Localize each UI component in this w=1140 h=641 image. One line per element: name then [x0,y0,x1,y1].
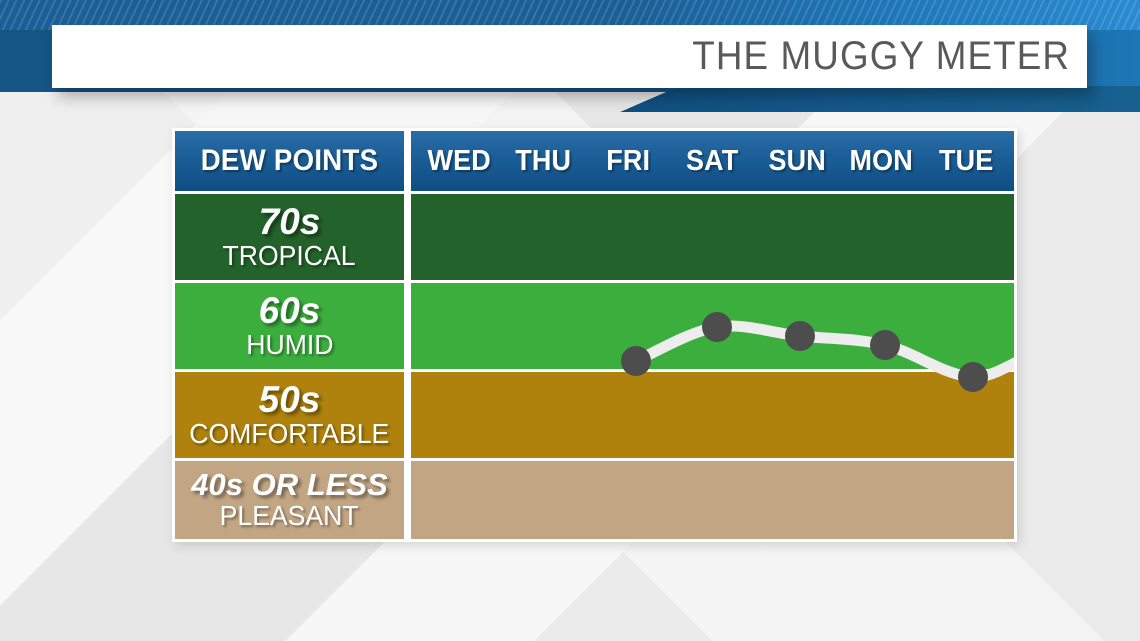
band-plot-pleasant [411,461,1014,539]
day-label-sun: SUN [758,145,837,178]
table-header-dew-points: DEW POINTS [175,131,404,191]
banner-notch-shape [620,86,1140,112]
day-label-tue: TUE [926,145,1005,178]
band-range-comfortable: 50s [259,381,321,418]
band-plot-tropical [411,194,1014,280]
title-card: THE MUGGY METER [52,25,1087,88]
band-range-tropical: 70s [259,203,321,240]
day-label-sat: SAT [673,145,752,178]
band-plot-comfortable [411,372,1014,458]
day-label-thu: THU [504,145,583,178]
day-label-wed: WED [420,145,499,178]
band-left-tropical: 70s TROPICAL [175,194,404,280]
page-title: THE MUGGY METER [693,34,1087,79]
table-header-days: WED THU FRI SAT SUN MON TUE [411,131,1014,191]
dew-points-header-label: DEW POINTS [201,144,379,178]
band-range-pleasant: 40s OR LESS [191,469,387,500]
table-grid: DEW POINTS WED THU FRI SAT SUN MON TUE 7… [175,131,1014,539]
band-label-comfortable: COMFORTABLE [189,419,389,448]
band-range-humid: 60s [259,292,321,329]
band-left-comfortable: 50s COMFORTABLE [175,372,404,458]
band-label-pleasant: PLEASANT [220,501,359,530]
band-label-tropical: TROPICAL [223,241,356,270]
muggy-meter-table: DEW POINTS WED THU FRI SAT SUN MON TUE 7… [172,128,1017,542]
day-label-row: WED THU FRI SAT SUN MON TUE [417,131,1008,191]
band-left-humid: 60s HUMID [175,283,404,369]
band-plot-humid [411,283,1014,369]
day-label-mon: MON [842,145,921,178]
band-label-humid: HUMID [246,330,333,359]
band-left-pleasant: 40s OR LESS PLEASANT [175,461,404,539]
day-label-fri: FRI [589,145,668,178]
